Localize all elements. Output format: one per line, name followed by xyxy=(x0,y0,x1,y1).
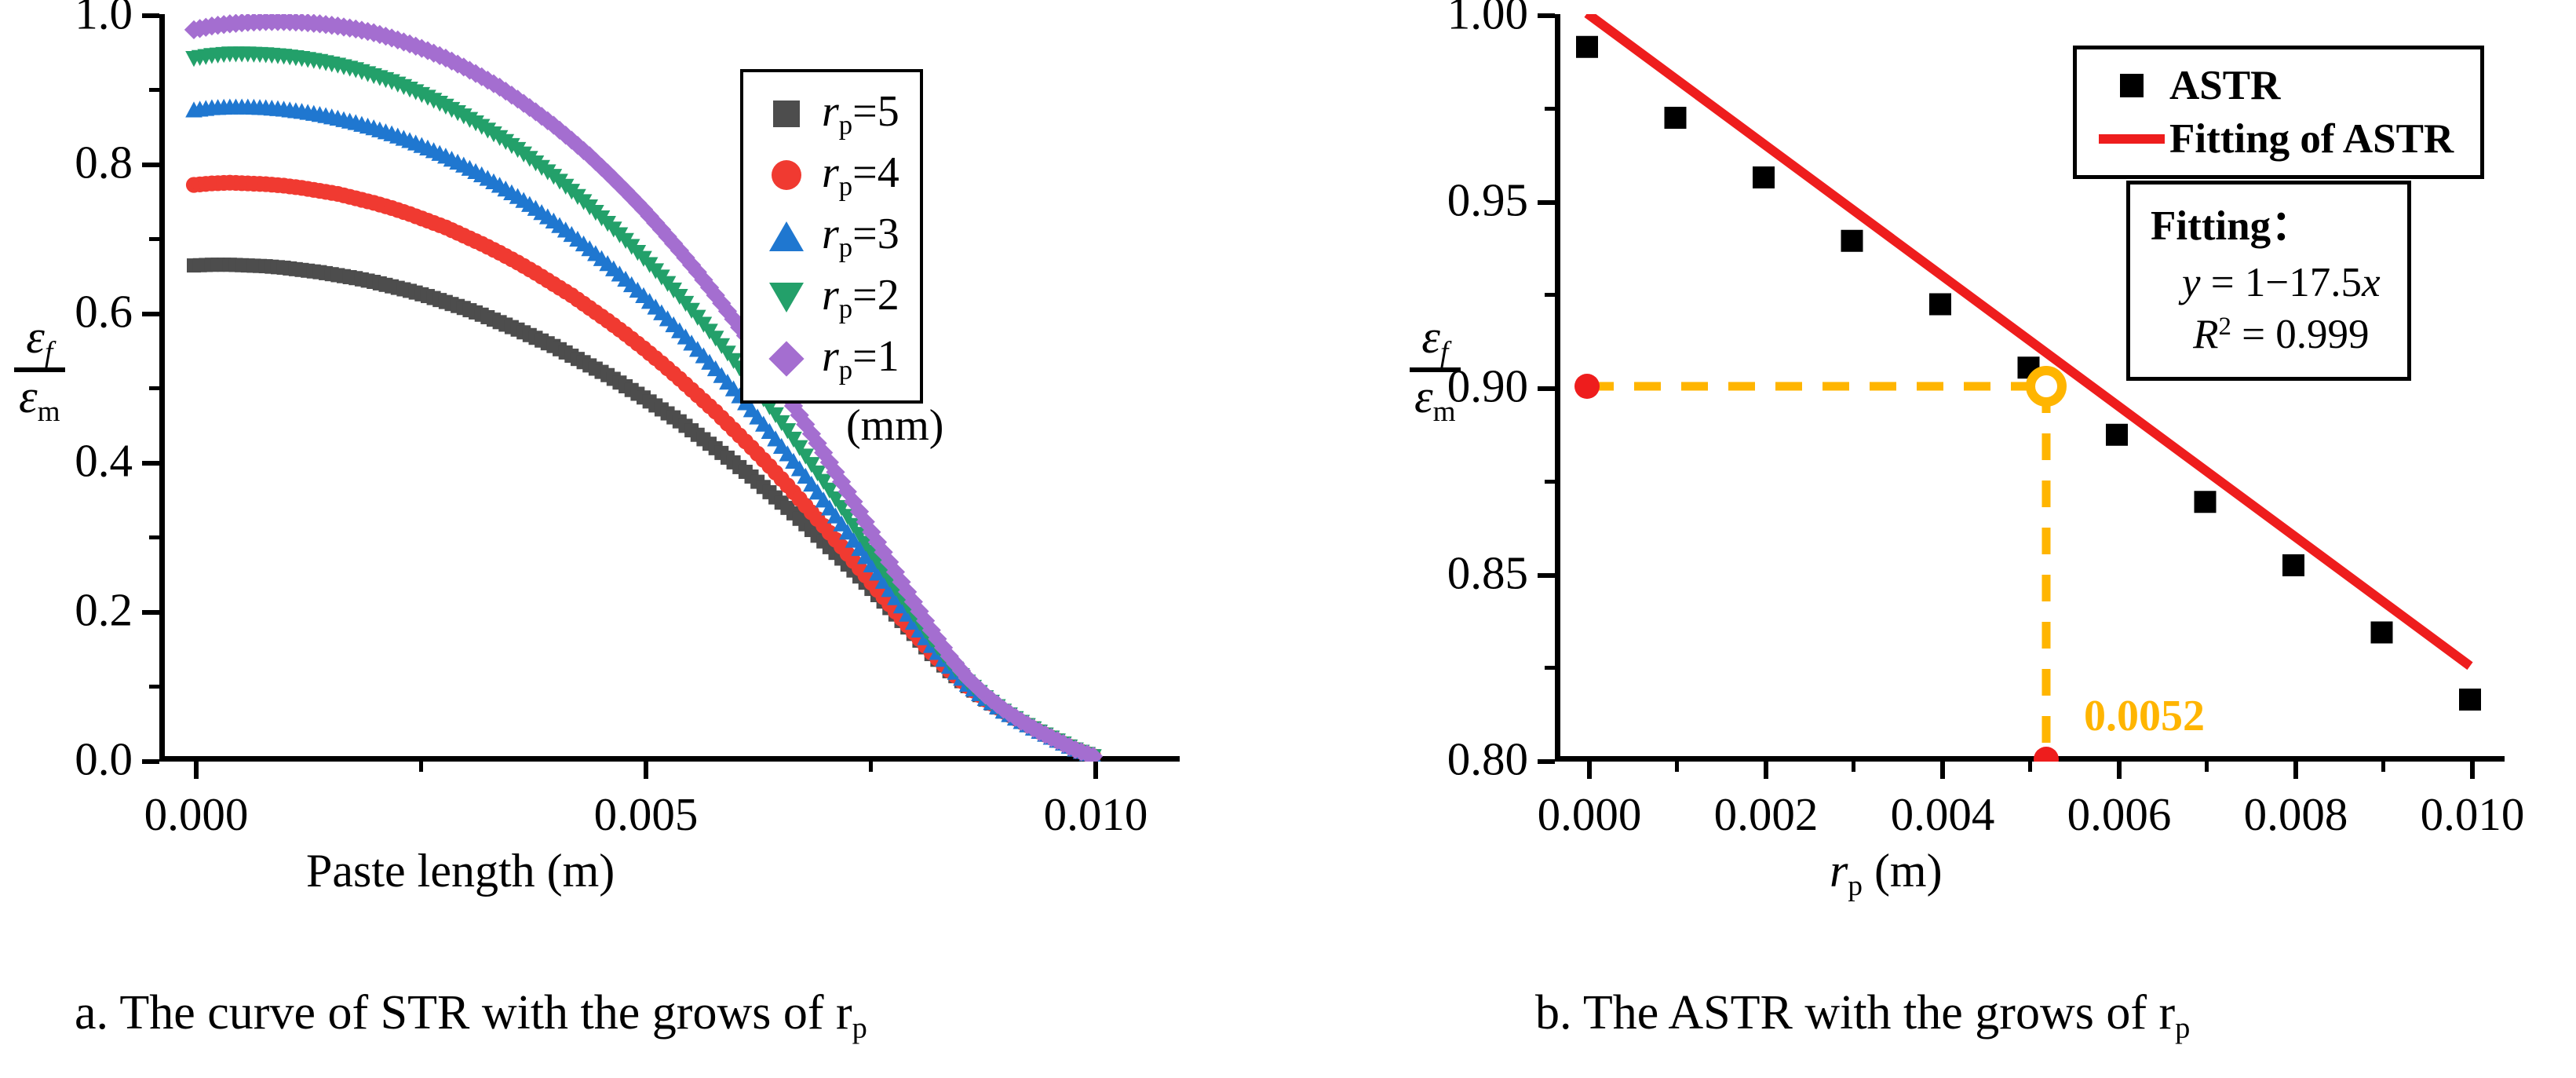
panel-b-xtick-minor-3 xyxy=(2205,762,2209,772)
panel-b-xtick-minor-1 xyxy=(1852,762,1855,772)
panel-a-ytick-1 xyxy=(142,610,159,615)
panel-b-fitting-box: Fitting： y = 1−17.5x R2 = 0.999 xyxy=(2126,181,2411,381)
panel-a-ytick-minor-3 xyxy=(149,237,159,241)
diamond-marker-icon xyxy=(757,346,815,371)
panel-a-xtick-2 xyxy=(1093,762,1098,779)
panel-a-xtick-0 xyxy=(194,762,199,779)
square-marker-icon xyxy=(757,100,815,127)
panel-a-ytick-2 xyxy=(142,461,159,466)
panel-b-xlabel-0: 0.000 xyxy=(1538,791,1642,838)
panel-b-ylabel-0: 0.80 xyxy=(1447,736,1528,783)
panel-a-xtick-minor-0 xyxy=(419,762,423,772)
panel-b-ytick-minor-2 xyxy=(1545,293,1555,297)
panel-b-ytick-minor-0 xyxy=(1545,666,1555,670)
legend-item-rp5[interactable]: rp=5 xyxy=(757,83,899,144)
panel-a-ytick-3 xyxy=(142,312,159,316)
line-marker-icon xyxy=(2094,134,2169,144)
panel-b-ytick-2 xyxy=(1538,386,1555,391)
panel-b-xtick-4 xyxy=(2293,762,2298,779)
legend-item-rp1[interactable]: rp=1 xyxy=(757,328,899,389)
panel-b-ytick-3 xyxy=(1538,200,1555,205)
panel-b-xaxis-title: rp (m) xyxy=(1830,844,1943,903)
panel-b-ylabel-2: 0.90 xyxy=(1447,364,1528,410)
legend-item-rp4[interactable]: rp=4 xyxy=(757,144,899,206)
panel-a-ylabel-5: 1.0 xyxy=(75,0,133,37)
panel-a-ylabel-1: 0.2 xyxy=(75,587,133,634)
panel-a-ytick-5 xyxy=(142,13,159,18)
panel-a-legend[interactable]: rp=5 rp=4 rp=3 rp=2 rp=1 xyxy=(740,69,923,404)
panel-b-ytick-0 xyxy=(1538,759,1555,764)
panel-a-ylabel-3: 0.6 xyxy=(75,289,133,335)
panel-a-plot: 0.0 0.2 0.4 0.6 0.8 1.0 0.000 0.005 0.01… xyxy=(159,14,1180,762)
panel-b-xtick-1 xyxy=(1764,762,1768,779)
panel-b-xtick-3 xyxy=(2117,762,2122,779)
panel-b-xtick-minor-2 xyxy=(2028,762,2032,772)
panel-b-xlabel-3: 0.006 xyxy=(2067,791,2172,838)
panel-a-xtick-minor-1 xyxy=(869,762,873,772)
legend-label-fitting: Fitting of ASTR xyxy=(2169,115,2454,163)
legend-label-astr: ASTR xyxy=(2169,62,2280,109)
panel-b-ytick-4 xyxy=(1538,13,1555,18)
fitting-r-squared: R2 = 0.999 xyxy=(2151,309,2381,360)
legend-label-rp3: rp=3 xyxy=(822,209,899,263)
panel-a-ytick-minor-0 xyxy=(149,685,159,689)
panel-b-xtick-2 xyxy=(1940,762,1945,779)
panel-b-ylabel-1: 0.85 xyxy=(1447,550,1528,597)
panel-a-ylabel-2: 0.4 xyxy=(75,438,133,484)
panel-a-yaxis-title: εf εm xyxy=(14,312,65,427)
circle-marker-icon xyxy=(757,160,815,190)
panel-a-xaxis-title: Paste length (m) xyxy=(306,844,615,898)
panel-a-ylabel-0: 0.0 xyxy=(75,736,133,783)
panel-a-caption: a. The curve of STR with the grows of rp xyxy=(75,985,867,1046)
panel-b-xtick-minor-0 xyxy=(1675,762,1679,772)
legend-item-astr[interactable]: ASTR xyxy=(2094,59,2454,112)
legend-item-rp2[interactable]: rp=2 xyxy=(757,267,899,328)
legend-item-rp3[interactable]: rp=3 xyxy=(757,206,899,267)
panel-b-ylabel-3: 0.95 xyxy=(1447,177,1528,224)
panel-a-ytick-minor-2 xyxy=(149,386,159,390)
panel-a-ytick-minor-1 xyxy=(149,535,159,539)
square-marker-icon xyxy=(2094,74,2169,97)
triangle-down-marker-icon xyxy=(757,283,815,312)
panel-a-ylabel-4: 0.8 xyxy=(75,140,133,186)
panel-b-xtick-5 xyxy=(2470,762,2475,779)
legend-item-fitting[interactable]: Fitting of ASTR xyxy=(2094,112,2454,166)
legend-label-rp2: rp=2 xyxy=(822,270,899,324)
fitting-equation: y = 1−17.5x xyxy=(2151,257,2381,309)
panel-b-ylabel-4: 1.00 xyxy=(1447,0,1528,37)
panel-a-xlabel-2: 0.010 xyxy=(1044,791,1148,838)
figure-root: εf εm 0.0 0.2 0.4 0.6 0.8 1.0 xyxy=(0,0,2576,1078)
panel-a: εf εm 0.0 0.2 0.4 0.6 0.8 1.0 xyxy=(0,0,1288,1078)
panel-b-ytick-minor-3 xyxy=(1545,107,1555,111)
panel-a-ytick-0 xyxy=(142,759,159,764)
panel-a-xlabel-1: 0.005 xyxy=(594,791,699,838)
panel-b-plot: 0.80 0.85 0.90 0.95 1.00 0.000 0.002 0.0… xyxy=(1555,14,2505,762)
fitting-title: Fitting： xyxy=(2151,192,2381,252)
triangle-up-marker-icon xyxy=(757,221,815,251)
panel-a-legend-unit: (mm) xyxy=(846,400,943,451)
panel-b-xlabel-5: 0.010 xyxy=(2421,791,2525,838)
panel-b-ytick-minor-1 xyxy=(1545,480,1555,484)
panel-b-xtick-minor-4 xyxy=(2381,762,2385,772)
legend-label-rp5: rp=5 xyxy=(822,86,899,141)
panel-b: εf εm 0.80 0.85 0.90 0.95 1.00 xyxy=(1288,0,2576,1078)
panel-a-ytick-4 xyxy=(142,163,159,167)
panel-b-caption: b. The ASTR with the grows of rp xyxy=(1535,985,2190,1046)
panel-b-xtick-0 xyxy=(1587,762,1592,779)
panel-b-ytick-1 xyxy=(1538,573,1555,578)
panel-a-ytick-minor-4 xyxy=(149,88,159,92)
panel-a-series-svg xyxy=(159,14,1180,762)
legend-label-rp1: rp=1 xyxy=(822,331,899,386)
panel-b-xlabel-1: 0.002 xyxy=(1714,791,1819,838)
legend-label-rp4: rp=4 xyxy=(822,148,899,202)
panel-a-xtick-1 xyxy=(644,762,648,779)
panel-b-xlabel-2: 0.004 xyxy=(1891,791,1995,838)
panel-b-legend[interactable]: ASTR Fitting of ASTR xyxy=(2073,46,2484,179)
panel-a-data-area xyxy=(159,14,1180,762)
panel-b-xlabel-4: 0.008 xyxy=(2244,791,2348,838)
panel-a-xlabel-0: 0.000 xyxy=(144,791,249,838)
panel-b-annotation-label: 0.0052 xyxy=(2084,691,2205,741)
